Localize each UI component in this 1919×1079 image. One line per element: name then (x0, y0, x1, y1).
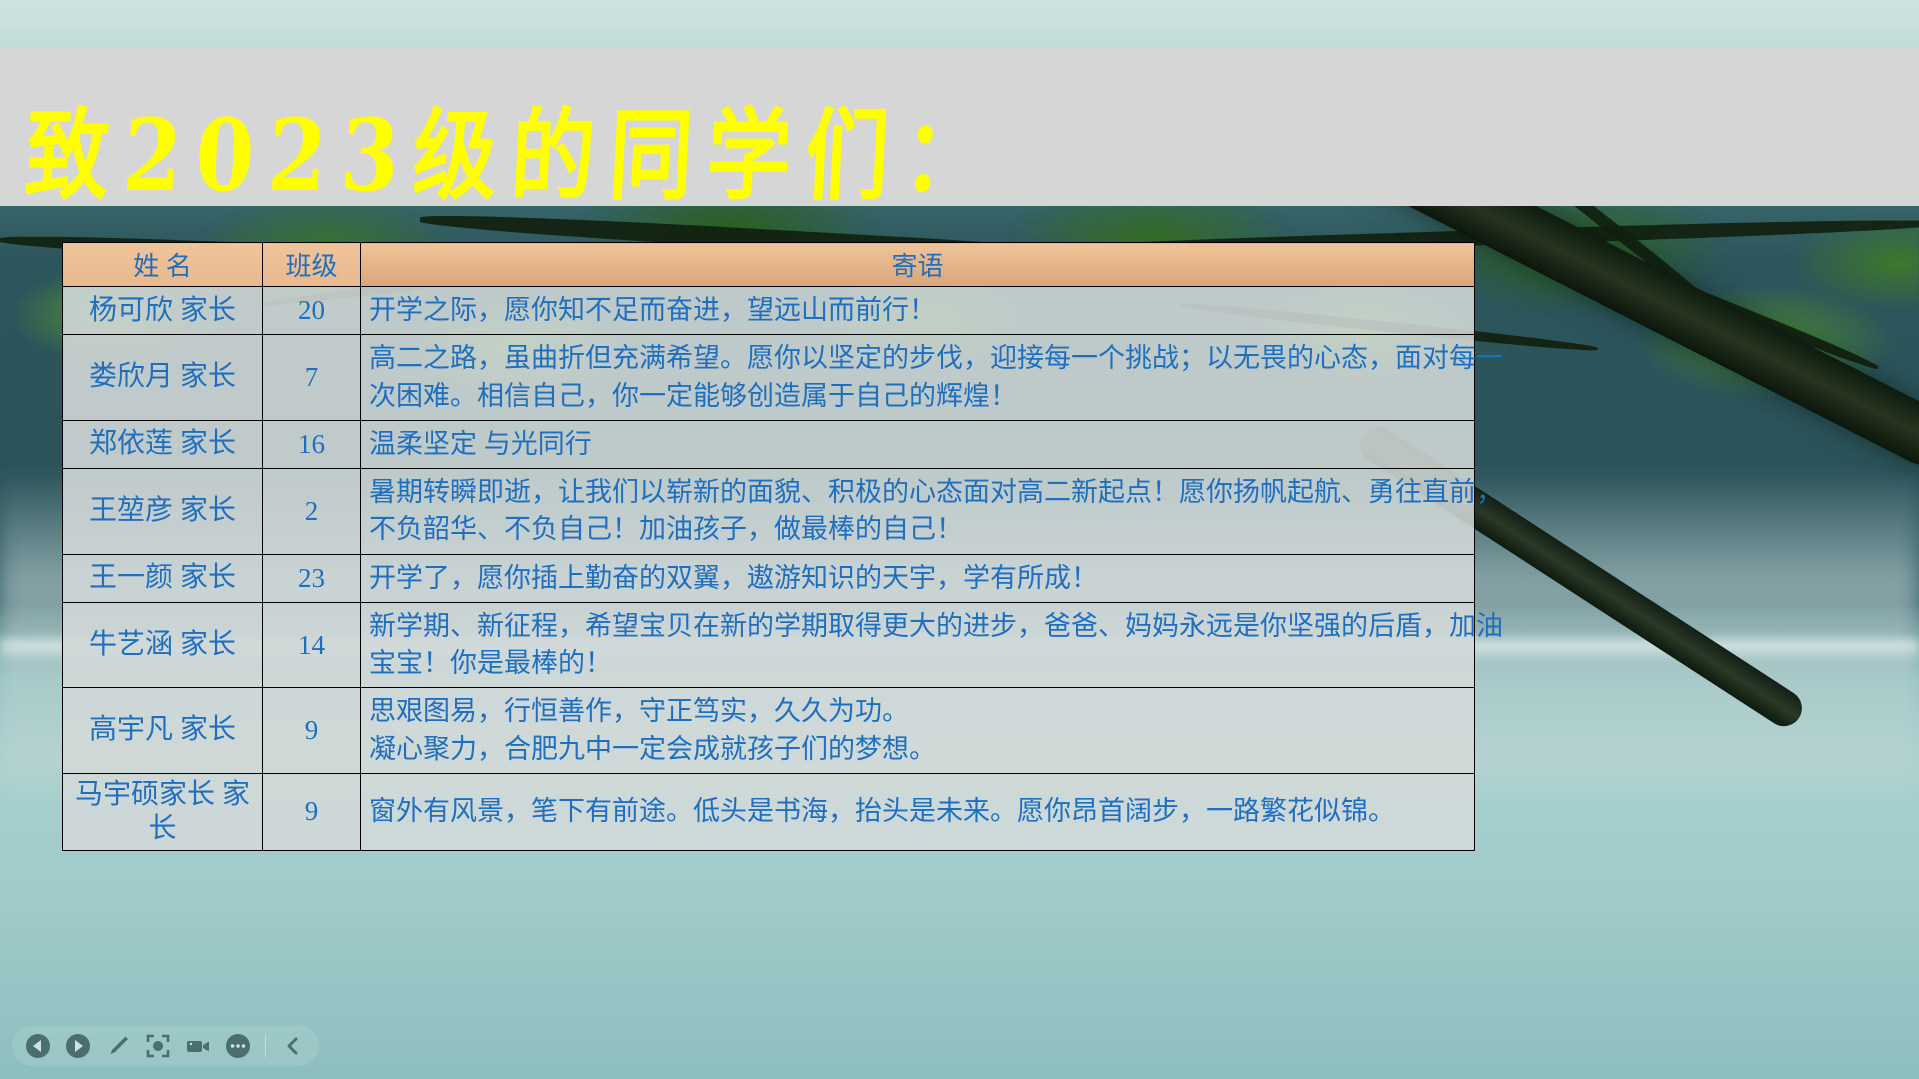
next-circle-icon (65, 1033, 91, 1059)
table-row: 马宇硕家长 家长9窗外有风景，笔下有前途。低头是书海，抬头是未来。愿你昂首阔步，… (63, 773, 1475, 850)
cell-message: 高二之路，虽曲折但充满希望。愿你以坚定的步伐，迎接每一个挑战；以无畏的心态，面对… (361, 335, 1475, 421)
column-header-message: 寄语 (361, 243, 1475, 287)
table-row: 王堃彦 家长2暑期转瞬即逝，让我们以崭新的面貌、积极的心态面对高二新起点！愿你扬… (63, 469, 1475, 555)
ellipsis-circle-icon (225, 1033, 251, 1059)
record-button[interactable] (181, 1029, 215, 1063)
chevron-left-icon (282, 1035, 304, 1057)
cell-message: 思艰图易，行恒善作，守正笃实，久久为功。凝心聚力，合肥九中一定会成就孩子们的梦想… (361, 688, 1475, 774)
cell-message: 开学了，愿你插上勤奋的双翼，遨游知识的天宇，学有所成！ (361, 554, 1475, 602)
cell-name: 高宇凡 家长 (63, 688, 263, 774)
table-body: 杨可欣 家长20开学之际，愿你知不足而奋进，望远山而前行！娄欣月 家长7高二之路… (63, 287, 1475, 851)
previous-slide-button[interactable] (21, 1029, 55, 1063)
toolbar-divider (265, 1035, 266, 1057)
message-line: 宝宝！你是最棒的！ (369, 645, 1468, 682)
prev-circle-icon (25, 1033, 51, 1059)
message-line: 凝心聚力，合肥九中一定会成就孩子们的梦想。 (369, 731, 1468, 768)
cell-class: 14 (263, 602, 361, 688)
cell-class: 23 (263, 554, 361, 602)
cell-name: 牛艺涵 家长 (63, 602, 263, 688)
cell-name: 娄欣月 家长 (63, 335, 263, 421)
cell-class: 9 (263, 688, 361, 774)
cell-name: 王堃彦 家长 (63, 469, 263, 555)
cell-message: 温柔坚定 与光同行 (361, 420, 1475, 468)
pen-icon (105, 1033, 131, 1059)
video-camera-icon (185, 1033, 211, 1059)
collapse-toolbar-button[interactable] (276, 1029, 310, 1063)
cell-name: 王一颜 家长 (63, 554, 263, 602)
spotlight-button[interactable] (141, 1029, 175, 1063)
cell-class: 16 (263, 420, 361, 468)
message-line: 不负韶华、不负自己！加油孩子，做最棒的自己！ (369, 511, 1468, 548)
cell-class: 2 (263, 469, 361, 555)
presentation-slide: 致2023级的同学们： 姓 名 班级 寄语 杨可欣 家长20开学之际，愿你知不足… (0, 0, 1919, 1079)
column-header-class: 班级 (263, 243, 361, 287)
page-title: 致2023级的同学们： (23, 104, 1004, 208)
spotlight-frame-icon (145, 1033, 171, 1059)
table-header-row: 姓 名 班级 寄语 (63, 243, 1475, 287)
slideshow-toolbar (12, 1026, 319, 1066)
next-slide-button[interactable] (61, 1029, 95, 1063)
cell-name: 马宇硕家长 家长 (63, 773, 263, 850)
message-line: 温柔坚定 与光同行 (369, 426, 1468, 463)
message-line: 开学了，愿你插上勤奋的双翼，遨游知识的天宇，学有所成！ (369, 560, 1468, 597)
cell-name: 杨可欣 家长 (63, 287, 263, 335)
cell-message: 新学期、新征程，希望宝贝在新的学期取得更大的进步，爸爸、妈妈永远是你坚强的后盾，… (361, 602, 1475, 688)
pen-tool-button[interactable] (101, 1029, 135, 1063)
cell-name: 郑依莲 家长 (63, 420, 263, 468)
cell-class: 7 (263, 335, 361, 421)
cell-class: 20 (263, 287, 361, 335)
cell-class: 9 (263, 773, 361, 850)
cell-message: 窗外有风景，笔下有前途。低头是书海，抬头是未来。愿你昂首阔步，一路繁花似锦。 (361, 773, 1475, 850)
table-row: 郑依莲 家长16温柔坚定 与光同行 (63, 420, 1475, 468)
title-band: 致2023级的同学们： (0, 48, 1919, 206)
table-row: 牛艺涵 家长14新学期、新征程，希望宝贝在新的学期取得更大的进步，爸爸、妈妈永远… (63, 602, 1475, 688)
message-line: 暑期转瞬即逝，让我们以崭新的面貌、积极的心态面对高二新起点！愿你扬帆起航、勇往直… (369, 474, 1468, 511)
cell-message: 暑期转瞬即逝，让我们以崭新的面貌、积极的心态面对高二新起点！愿你扬帆起航、勇往直… (361, 469, 1475, 555)
cell-message: 开学之际，愿你知不足而奋进，望远山而前行！ (361, 287, 1475, 335)
message-line: 高二之路，虽曲折但充满希望。愿你以坚定的步伐，迎接每一个挑战；以无畏的心态，面对… (369, 340, 1468, 377)
more-options-button[interactable] (221, 1029, 255, 1063)
table-row: 王一颜 家长23开学了，愿你插上勤奋的双翼，遨游知识的天宇，学有所成！ (63, 554, 1475, 602)
message-line: 窗外有风景，笔下有前途。低头是书海，抬头是未来。愿你昂首阔步，一路繁花似锦。 (369, 793, 1468, 830)
table-row: 娄欣月 家长7高二之路，虽曲折但充满希望。愿你以坚定的步伐，迎接每一个挑战；以无… (63, 335, 1475, 421)
message-line: 开学之际，愿你知不足而奋进，望远山而前行！ (369, 292, 1468, 329)
message-line: 思艰图易，行恒善作，守正笃实，久久为功。 (369, 693, 1468, 730)
message-line: 次困难。相信自己，你一定能够创造属于自己的辉煌！ (369, 378, 1468, 415)
message-line: 新学期、新征程，希望宝贝在新的学期取得更大的进步，爸爸、妈妈永远是你坚强的后盾，… (369, 608, 1468, 645)
table-row: 杨可欣 家长20开学之际，愿你知不足而奋进，望远山而前行！ (63, 287, 1475, 335)
messages-table: 姓 名 班级 寄语 杨可欣 家长20开学之际，愿你知不足而奋进，望远山而前行！娄… (62, 242, 1475, 851)
table-row: 高宇凡 家长9思艰图易，行恒善作，守正笃实，久久为功。凝心聚力，合肥九中一定会成… (63, 688, 1475, 774)
column-header-name: 姓 名 (63, 243, 263, 287)
